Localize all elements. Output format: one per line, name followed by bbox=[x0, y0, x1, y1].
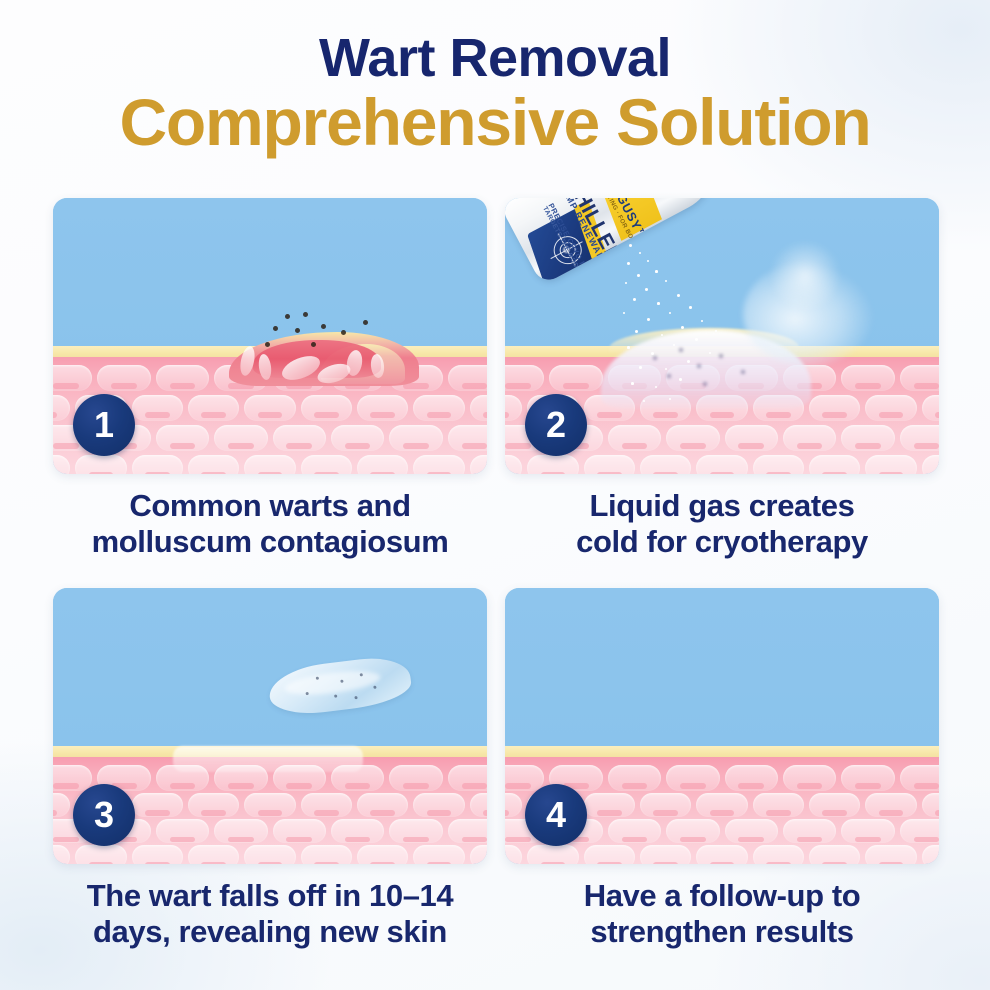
step-illustration-3: 3 bbox=[53, 588, 487, 864]
cell-row bbox=[53, 845, 487, 864]
caption-line-2: strengthen results bbox=[505, 914, 939, 950]
step-caption-4: Have a follow-up to strengthen results bbox=[505, 878, 939, 950]
page-title: Wart Removal Comprehensive Solution bbox=[0, 30, 990, 157]
steps-row-1: 1 Common warts and molluscum contagiosum bbox=[53, 198, 938, 560]
infographic-page: Wart Removal Comprehensive Solution bbox=[0, 0, 990, 990]
steps-grid: 1 Common warts and molluscum contagiosum bbox=[53, 198, 938, 950]
step-number-badge: 2 bbox=[525, 394, 587, 456]
step-caption-2: Liquid gas creates cold for cryotherapy bbox=[505, 488, 939, 560]
wart-lesion bbox=[229, 308, 419, 380]
caption-line-1: Common warts and bbox=[53, 488, 487, 524]
step-card-1: 1 Common warts and molluscum contagiosum bbox=[53, 198, 487, 560]
step-number-badge: 4 bbox=[525, 784, 587, 846]
cell-row bbox=[53, 455, 487, 474]
caption-line-2: cold for cryotherapy bbox=[505, 524, 939, 560]
caption-line-2: days, revealing new skin bbox=[53, 914, 487, 950]
step-card-3: 3 The wart falls off in 10–14 days, reve… bbox=[53, 588, 487, 950]
step-illustration-4: 4 bbox=[505, 588, 939, 864]
step-caption-1: Common warts and molluscum contagiosum bbox=[53, 488, 487, 560]
caption-line-1: Liquid gas creates bbox=[505, 488, 939, 524]
caption-line-1: Have a follow-up to bbox=[505, 878, 939, 914]
step-card-2: NEGUSY™ CHILLERASE BUMP RENEWAL SPRAY FA… bbox=[505, 198, 939, 560]
cell-row bbox=[505, 845, 939, 864]
step-number-badge: 3 bbox=[73, 784, 135, 846]
caption-line-1: The wart falls off in 10–14 bbox=[53, 878, 487, 914]
cell-row bbox=[505, 455, 939, 474]
step-caption-3: The wart falls off in 10–14 days, reveal… bbox=[53, 878, 487, 950]
caption-line-2: molluscum contagiosum bbox=[53, 524, 487, 560]
spray-mist bbox=[623, 242, 813, 412]
step-illustration-1: 1 bbox=[53, 198, 487, 474]
title-line-2: Comprehensive Solution bbox=[0, 88, 990, 157]
step-illustration-2: NEGUSY™ CHILLERASE BUMP RENEWAL SPRAY FA… bbox=[505, 198, 939, 474]
title-line-1: Wart Removal bbox=[0, 30, 990, 86]
step-card-4: 4 Have a follow-up to strengthen results bbox=[505, 588, 939, 950]
step-number-badge: 1 bbox=[73, 394, 135, 456]
steps-row-2: 3 The wart falls off in 10–14 days, reve… bbox=[53, 588, 938, 950]
